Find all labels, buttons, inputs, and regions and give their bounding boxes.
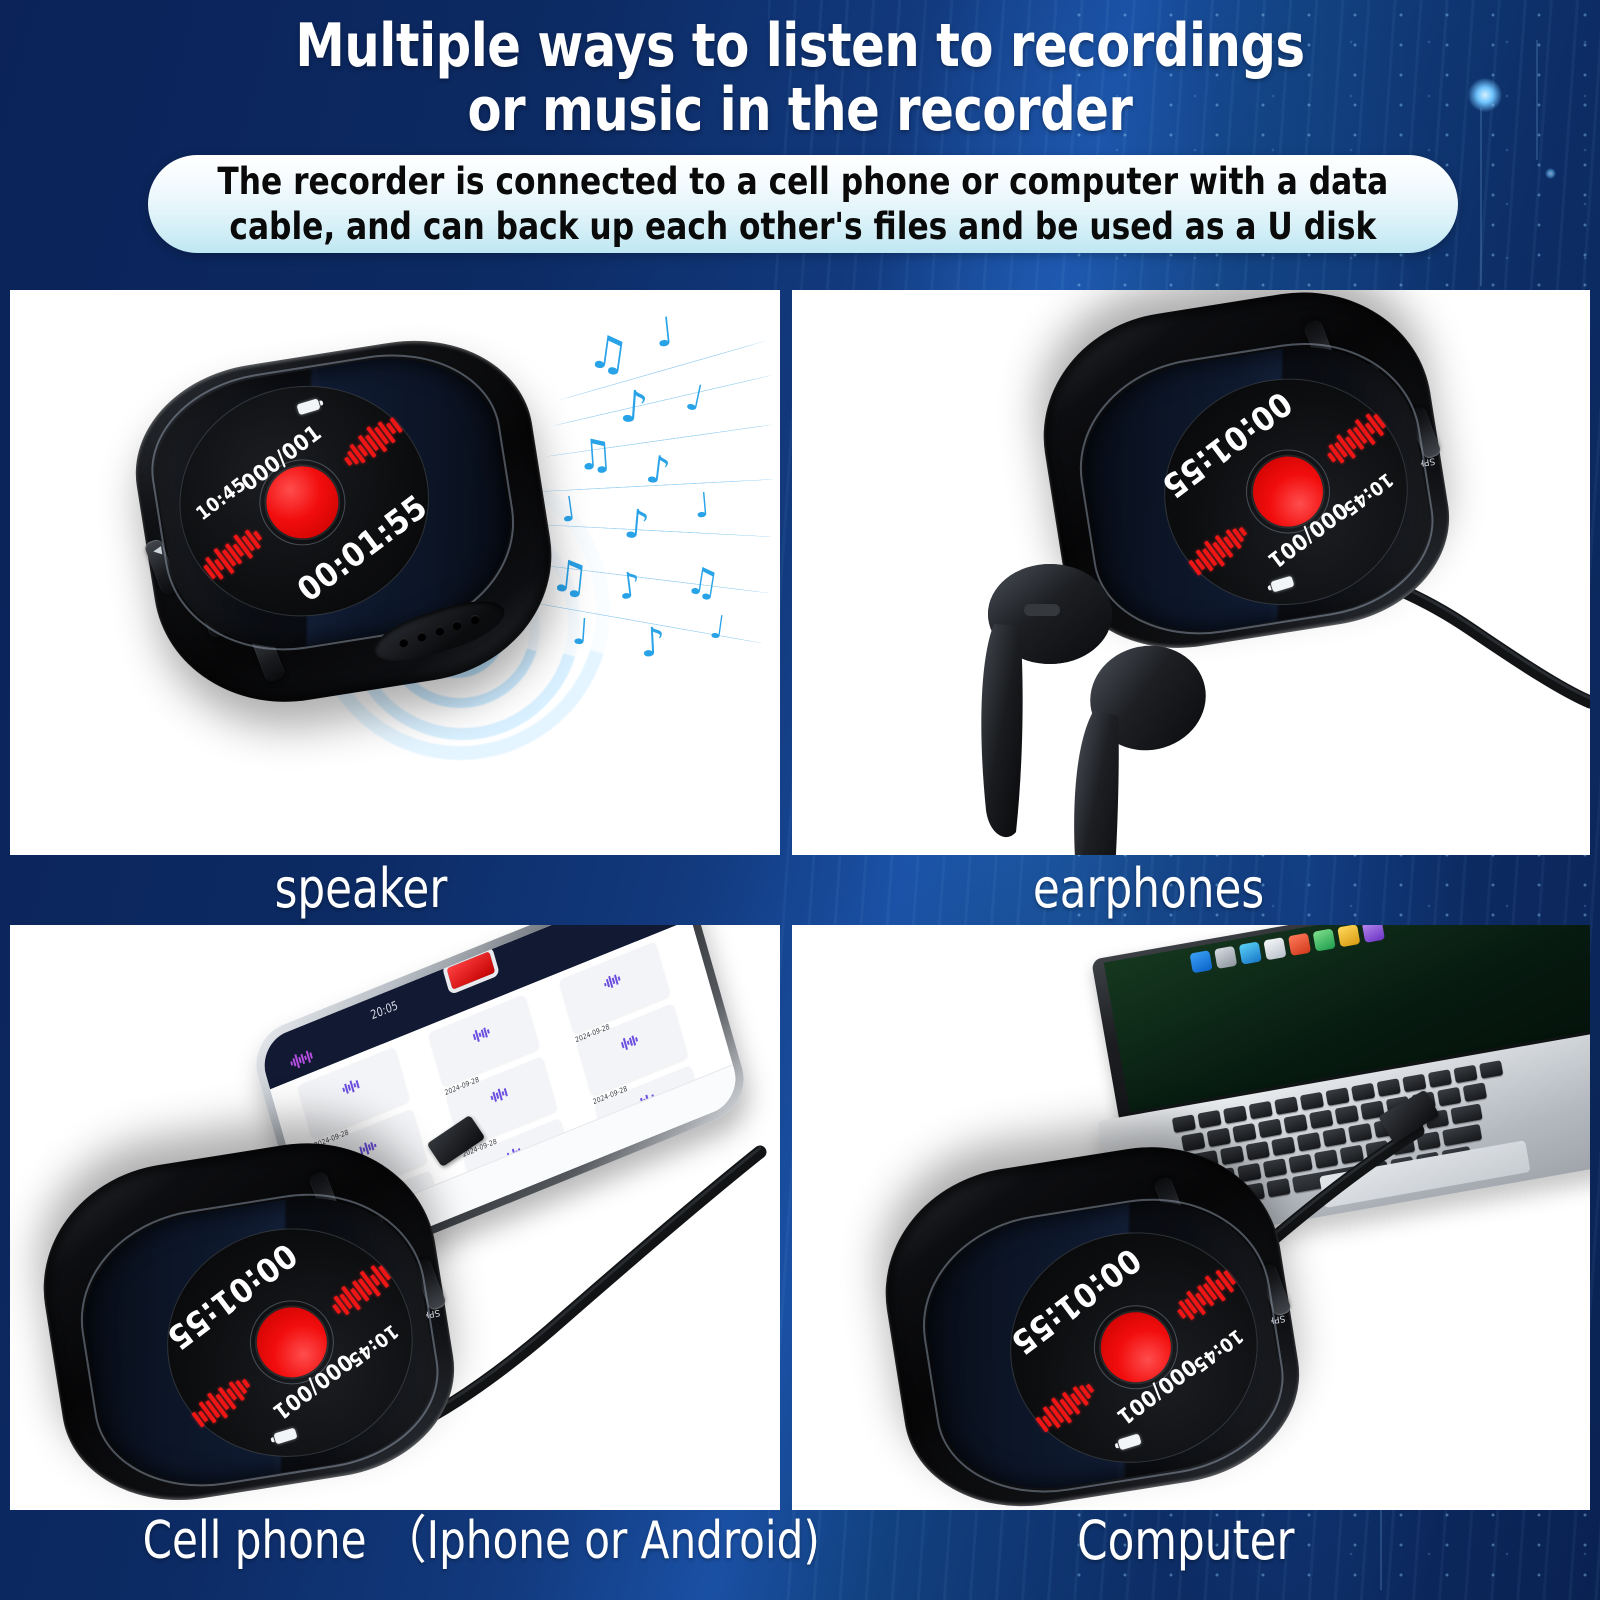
key[interactable] xyxy=(1376,1079,1400,1098)
key[interactable] xyxy=(1442,1124,1482,1146)
waveform-icon xyxy=(289,1048,317,1071)
key[interactable] xyxy=(1325,1088,1349,1107)
music-note-icon: ♪ xyxy=(616,565,644,608)
panel-computer: SPK REC 10:45 000/001 00:01:55 xyxy=(792,925,1590,1510)
headline-line-2: or music in the recorder xyxy=(64,78,1536,142)
banner-line-2: cable, and can back up each other's file… xyxy=(218,204,1389,249)
battery-icon xyxy=(1117,1433,1141,1450)
page-title: Multiple ways to listen to recordings or… xyxy=(64,14,1536,142)
earbud-right-icon xyxy=(1042,640,1242,855)
dock-icon[interactable] xyxy=(1239,942,1262,965)
music-note-icon: ♫ xyxy=(683,558,724,607)
dock-icon[interactable] xyxy=(1313,928,1336,951)
dock-icon[interactable] xyxy=(1214,946,1237,969)
speaker-hole xyxy=(434,625,445,636)
waveform-right xyxy=(1032,1376,1101,1438)
recorder-device[interactable]: SPK REC 10:45 000/001 00:01:55 xyxy=(26,1124,469,1510)
waveform-right xyxy=(337,412,406,474)
caption-earphones: earphones xyxy=(1033,860,1264,918)
panel-speaker: ♫ ♩ ♪ ♩ ♫ ♪ ♩ ♪ ♩ ♫ ♪ ♫ ♩ ♪ ♩ ◀ REC ▶ ⎋ xyxy=(10,290,780,855)
banner-line-1: The recorder is connected to a cell phon… xyxy=(218,159,1389,204)
key[interactable] xyxy=(1299,1092,1323,1111)
music-note-icon: ♩ xyxy=(571,611,591,653)
dock-icon[interactable] xyxy=(1337,925,1360,947)
music-note-icon: ♪ xyxy=(643,447,672,494)
waveform-left xyxy=(1321,408,1390,470)
music-note-icon: ♩ xyxy=(653,309,677,357)
waveform-icon xyxy=(489,1085,511,1109)
speaker-hole xyxy=(451,620,462,631)
music-note-icon: ♪ xyxy=(639,619,667,666)
caption-cellphone: Cell phone （Iphone or Android) xyxy=(143,1512,820,1570)
music-note-icon: ♩ xyxy=(682,377,707,421)
recorder-device[interactable]: SPK REC 10:45 000/001 00:01:55 xyxy=(868,1128,1314,1510)
music-note-icon: ♪ xyxy=(622,501,651,549)
panel-earphones: SPK REC 10:45 000/001 00:01:55 xyxy=(792,290,1590,855)
waveform-icon xyxy=(472,1024,494,1048)
music-note-icon: ♫ xyxy=(584,323,632,382)
music-note-icon: ♩ xyxy=(692,485,711,526)
laptop-dock xyxy=(1189,925,1387,987)
prev-icon: ◀ xyxy=(152,543,162,557)
phone-record-button[interactable] xyxy=(441,946,499,995)
panel-grid: ♫ ♩ ♪ ♩ ♫ ♪ ♩ ♪ ♩ ♫ ♪ ♫ ♩ ♪ ♩ ◀ REC ▶ ⎋ xyxy=(0,290,1600,1600)
music-note-icon: ♩ xyxy=(707,607,727,647)
music-note-icon: ♫ xyxy=(574,429,615,481)
waveform-icon xyxy=(620,1032,642,1056)
key[interactable] xyxy=(1248,1101,1272,1120)
waveform-right xyxy=(1185,519,1254,581)
subtitle-text: The recorder is connected to a cell phon… xyxy=(204,159,1401,249)
phone-status-time: 20:05 xyxy=(369,998,399,1023)
key[interactable] xyxy=(1274,1097,1298,1116)
key[interactable] xyxy=(1450,1104,1482,1125)
key[interactable] xyxy=(1453,1065,1477,1084)
key[interactable] xyxy=(1437,1087,1461,1107)
waveform-left xyxy=(326,1260,395,1322)
battery-icon xyxy=(273,1428,297,1445)
dock-icon[interactable] xyxy=(1362,925,1385,943)
speaker-hole xyxy=(416,631,427,642)
key[interactable] xyxy=(1351,1083,1375,1102)
key[interactable] xyxy=(1427,1069,1451,1088)
key[interactable] xyxy=(1334,1105,1358,1125)
waveform-icon xyxy=(341,1076,363,1100)
waveform-icon xyxy=(602,971,624,995)
dock-icon[interactable] xyxy=(1189,950,1212,973)
caption-speaker: speaker xyxy=(275,860,448,918)
music-note-icon: ♪ xyxy=(618,381,650,434)
staff-line xyxy=(553,375,772,427)
key[interactable] xyxy=(1479,1060,1503,1079)
dock-icon[interactable] xyxy=(1288,933,1311,956)
header: Multiple ways to listen to recordings or… xyxy=(0,0,1600,290)
subtitle-banner: The recorder is connected to a cell phon… xyxy=(148,155,1458,253)
battery-icon xyxy=(1270,576,1294,593)
speaker-hole xyxy=(398,637,409,648)
key[interactable] xyxy=(1462,1083,1486,1103)
recorder-device[interactable]: ◀ REC ▶ ⎋ 10:45 000/001 00:01:55 xyxy=(121,323,569,721)
panel-cellphone: 20:05 xyxy=(10,925,780,1510)
waveform-left xyxy=(199,523,268,585)
key[interactable] xyxy=(1223,1106,1247,1125)
waveform-left xyxy=(1171,1264,1240,1326)
dock-icon[interactable] xyxy=(1263,937,1286,960)
waveform-right xyxy=(188,1371,257,1433)
caption-computer: Computer xyxy=(1077,1512,1294,1570)
headline-line-1: Multiple ways to listen to recordings xyxy=(64,14,1536,78)
battery-icon xyxy=(296,398,320,415)
speaker-hole xyxy=(469,614,480,625)
